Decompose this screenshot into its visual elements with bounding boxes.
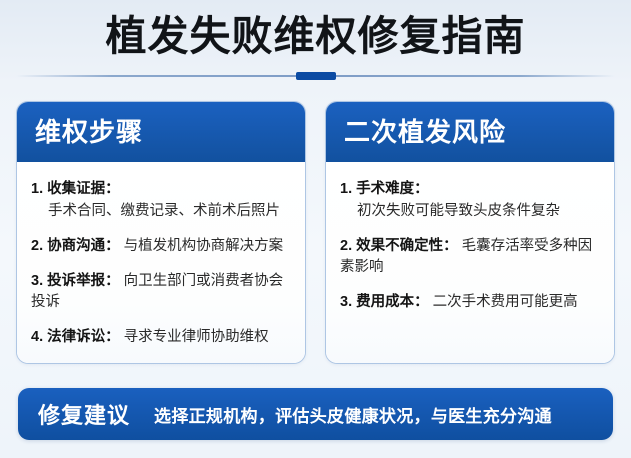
item-label: 投诉举报： — [47, 273, 120, 289]
item-label: 法律诉讼： — [47, 329, 120, 345]
item-heading-line: 3. 费用成本： 二次手术费用可能更高 — [340, 292, 601, 313]
repair-advice-banner: 修复建议 选择正规机构，评估头皮健康状况，与医生充分沟通 — [18, 388, 613, 440]
item-description: 初次失败可能导致头皮条件复杂 — [340, 201, 601, 222]
item-label: 协商沟通： — [47, 238, 120, 254]
list-item: 3. 投诉举报： 向卫生部门或消费者协会投诉 — [31, 271, 292, 313]
divider-nub-icon — [296, 72, 336, 80]
item-label: 费用成本： — [356, 294, 429, 310]
item-description: 与植发机构协商解决方案 — [124, 238, 284, 254]
list-item: 4. 法律诉讼： 寻求专业律师协助维权 — [31, 327, 292, 348]
infographic-root: 植发失败维权修复指南 维权步骤 1. 收集证据： 手术合同、缴费记录、术前术后照… — [0, 0, 631, 458]
header-block: 植发失败维权修复指南 — [0, 0, 631, 88]
card-header-second-transplant-risks: 二次植发风险 — [326, 102, 614, 162]
page-title: 植发失败维权修复指南 — [0, 9, 631, 63]
banner-text: 选择正规机构，评估头皮健康状况，与医生充分沟通 — [154, 402, 552, 427]
list-item: 1. 收集证据： 手术合同、缴费记录、术前术后照片 — [31, 179, 292, 222]
item-list-rights-steps: 1. 收集证据： 手术合同、缴费记录、术前术后照片 2. 协商沟通： 与植发机构… — [31, 179, 292, 348]
item-number: 2. — [31, 238, 43, 254]
item-list-second-transplant-risks: 1. 手术难度： 初次失败可能导致头皮条件复杂 2. 效果不确定性： 毛囊存活率… — [340, 179, 601, 313]
item-description: 手术合同、缴费记录、术前术后照片 — [31, 201, 292, 222]
list-item: 2. 效果不确定性： 毛囊存活率受多种因素影响 — [340, 236, 601, 278]
item-number: 2. — [340, 238, 352, 254]
item-label: 手术难度： — [356, 181, 429, 197]
list-item: 1. 手术难度： 初次失败可能导致头皮条件复杂 — [340, 179, 601, 222]
card-body-rights-steps: 1. 收集证据： 手术合同、缴费记录、术前术后照片 2. 协商沟通： 与植发机构… — [17, 162, 305, 363]
card-header-title: 维权步骤 — [35, 117, 143, 147]
list-item: 2. 协商沟通： 与植发机构协商解决方案 — [31, 236, 292, 257]
item-number: 1. — [340, 181, 352, 197]
item-description: 二次手术费用可能更高 — [433, 294, 578, 310]
item-number: 4. — [31, 329, 43, 345]
item-heading-line: 1. 收集证据： — [31, 179, 292, 200]
item-description: 寻求专业律师协助维权 — [124, 329, 269, 345]
banner-label: 修复建议 — [38, 398, 130, 430]
card-header-title: 二次植发风险 — [344, 117, 506, 147]
item-heading-line: 3. 投诉举报： 向卫生部门或消费者协会投诉 — [31, 271, 292, 313]
item-label: 收集证据： — [47, 181, 120, 197]
item-heading-line: 2. 协商沟通： 与植发机构协商解决方案 — [31, 236, 292, 257]
item-label: 效果不确定性： — [356, 238, 458, 254]
item-heading-line: 2. 效果不确定性： 毛囊存活率受多种因素影响 — [340, 236, 601, 278]
item-number: 3. — [340, 294, 352, 310]
card-header-rights-steps: 维权步骤 — [17, 102, 305, 162]
card-second-transplant-risks: 二次植发风险 1. 手术难度： 初次失败可能导致头皮条件复杂 2. 效 — [325, 101, 615, 364]
item-number: 3. — [31, 273, 43, 289]
item-heading-line: 4. 法律诉讼： 寻求专业律师协助维权 — [31, 327, 292, 348]
list-item: 3. 费用成本： 二次手术费用可能更高 — [340, 292, 601, 313]
title-divider — [16, 72, 615, 80]
cards-row: 维权步骤 1. 收集证据： 手术合同、缴费记录、术前术后照片 2. 协 — [16, 101, 615, 364]
card-body-second-transplant-risks: 1. 手术难度： 初次失败可能导致头皮条件复杂 2. 效果不确定性： 毛囊存活率… — [326, 162, 614, 363]
card-rights-steps: 维权步骤 1. 收集证据： 手术合同、缴费记录、术前术后照片 2. 协 — [16, 101, 306, 364]
item-heading-line: 1. 手术难度： — [340, 179, 601, 200]
item-number: 1. — [31, 181, 43, 197]
